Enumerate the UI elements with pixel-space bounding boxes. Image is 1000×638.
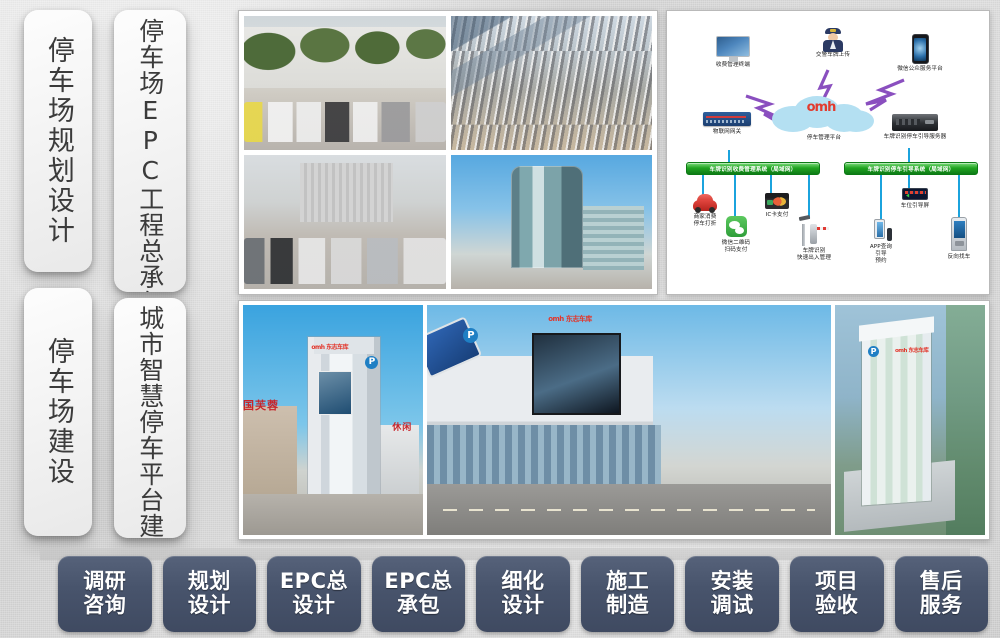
- render-aerial-tower-garage: P omh 东志车库: [835, 305, 985, 535]
- leaf-label-line2: 扫码支付: [714, 247, 758, 254]
- leaf-label-line2: 快速出入管理: [790, 255, 838, 262]
- wechat-icon: [726, 216, 747, 237]
- connector-to-ic-card: [770, 175, 772, 194]
- card-label: 城市智慧停车平台建设: [135, 305, 165, 531]
- card-label: 停车场规划设计: [42, 36, 74, 246]
- street-road: [427, 484, 831, 535]
- bar-lpr-guidance-system: 车牌识别停车引导系统（局域网）: [844, 162, 978, 175]
- chip-line2: 调试: [711, 594, 754, 618]
- parking-badge: P: [365, 356, 378, 369]
- chip-row: 调研 咨询 规划 设计 EPC总 设计 EPC总 承包 细化 设计 施工 制造: [58, 556, 988, 632]
- neighbor-building-left: [243, 406, 297, 498]
- connector-to-app: [880, 175, 882, 221]
- photo-aerial-parking-lot: [451, 16, 653, 150]
- connector-to-reverse-find: [958, 175, 960, 219]
- card-smart-parking-platform[interactable]: 城市智慧停车平台建设: [114, 298, 186, 538]
- node-label: 微信公众服务平台: [884, 66, 956, 73]
- photo-street-parking-lot: [244, 16, 446, 150]
- chip-line1: EPC总: [384, 570, 452, 594]
- leaf-app-query-guidance: APP查询 引导 预约: [862, 219, 900, 265]
- glass-facade: [427, 425, 661, 485]
- chip-line1: 安装: [711, 570, 754, 594]
- node-label: 收费管理终端: [696, 62, 770, 69]
- node-label: 交警车牌上传: [802, 52, 864, 59]
- card-label: 停车场建设: [42, 337, 74, 487]
- router-gateway-icon: [703, 112, 751, 126]
- connector-gateway-down: [728, 150, 730, 162]
- bar-label: 车牌识别收费管理系统（局域网）: [710, 165, 797, 173]
- chip-epc-overall-design[interactable]: EPC总 设计: [267, 556, 361, 632]
- node-lpr-guidance-server: 车牌识别停车引导服务器: [868, 114, 962, 141]
- chip-line1: 施工: [606, 570, 649, 594]
- ic-card-icon: [765, 193, 789, 209]
- street-ground: [243, 494, 423, 535]
- chip-line1: 调研: [83, 570, 126, 594]
- leaf-wechat-qr-payment: 微信二维码 扫码支付: [714, 216, 758, 254]
- smartphone-icon: [912, 34, 929, 64]
- chip-line2: 设计: [502, 594, 545, 618]
- node-wechat-public-platform: 微信公众服务平台: [884, 34, 956, 73]
- chip-detailed-design[interactable]: 细化 设计: [476, 556, 570, 632]
- node-label: 车牌识别停车引导服务器: [868, 134, 962, 141]
- photo-glass-office-tower: [451, 155, 653, 289]
- node-parking-cloud-platform: omh 停车管理平台: [772, 92, 876, 142]
- brand-logo: omh 东志车库: [311, 342, 348, 351]
- led-guidance-screen-icon: [902, 188, 928, 200]
- chip-line2: 承包: [397, 594, 440, 618]
- chip-line2: 设计: [292, 594, 335, 618]
- chip-line2: 服务: [920, 594, 963, 618]
- leaf-lpr-fast-access: 车牌识别 快速出入管理: [790, 216, 838, 262]
- connector-server-down: [908, 148, 910, 162]
- site-photo-panel: [238, 10, 658, 295]
- architectural-render-panel: omh 东志车库 P 国芙蓉 休闲 P omh 东志车库 P: [238, 300, 990, 540]
- bar-lpr-toll-system: 车牌识别收费管理系统（局域网）: [686, 162, 820, 175]
- chip-epc-contracting[interactable]: EPC总 承包: [372, 556, 466, 632]
- mobile-app-icon: [874, 219, 888, 241]
- left-card-column: 停车场规划设计 停车场EPC工程总承包 停车场建设 城市智慧停车平台建设: [0, 0, 232, 548]
- node-label: 停车管理平台: [772, 135, 876, 142]
- signage-left: 国芙蓉: [243, 397, 279, 413]
- parking-badge: P: [463, 328, 478, 343]
- card-label: 停车场EPC工程总承包: [135, 18, 165, 283]
- chip-line2: 验收: [815, 594, 858, 618]
- render-grid: omh 东志车库 P 国芙蓉 休闲 P omh 东志车库 P: [243, 305, 985, 535]
- photo-lot-with-brick-building: [244, 155, 446, 289]
- chip-line1: 规划: [188, 570, 231, 594]
- signage-right: 休闲: [392, 420, 412, 433]
- leaf-label-line1: 反向找车: [940, 254, 978, 261]
- chip-line1: 项目: [815, 570, 858, 594]
- photo-grid: [244, 16, 652, 289]
- connector-to-wechat-qr: [734, 175, 736, 217]
- chip-line1: 细化: [502, 570, 545, 594]
- node-toll-management-terminal: 收费管理终端: [696, 36, 770, 69]
- node-traffic-police-upload: 交警车牌上传: [802, 28, 864, 59]
- bar-label: 车牌识别停车引导系统（局域网）: [868, 165, 955, 173]
- barrier-gate-camera-icon: [799, 216, 829, 246]
- leaf-reverse-car-finding: 反向找车: [940, 217, 978, 261]
- chip-construction-manufacture[interactable]: 施工 制造: [581, 556, 675, 632]
- node-label: 物联网网关: [690, 129, 764, 136]
- card-parking-planning-design[interactable]: 停车场规划设计: [24, 10, 92, 272]
- leaf-parking-guidance-screen: 车位引导屏: [894, 188, 936, 210]
- chip-planning-design[interactable]: 规划 设计: [163, 556, 257, 632]
- poster-canvas: 停车场规划设计 停车场EPC工程总承包 停车场建设 城市智慧停车平台建设: [0, 0, 1000, 638]
- render-multistory-garage: P omh 东志车库: [427, 305, 831, 535]
- card-parking-epc-contract[interactable]: 停车场EPC工程总承包: [114, 10, 186, 292]
- leaf-label-line3: 预约: [862, 258, 900, 265]
- node-iot-gateway: 物联网网关: [690, 112, 764, 136]
- brand-logo: omh 东志车库: [548, 314, 592, 324]
- chip-survey-consulting[interactable]: 调研 咨询: [58, 556, 152, 632]
- red-car-icon: [693, 194, 717, 211]
- chip-project-acceptance[interactable]: 项目 验收: [790, 556, 884, 632]
- connector-to-lpr-access: [808, 175, 810, 219]
- neighbor-building-right: [376, 425, 419, 503]
- chip-line2: 咨询: [83, 594, 126, 618]
- connector-to-merchant: [702, 175, 704, 195]
- monitor-icon: [716, 36, 750, 62]
- leaf-label-line1: 车位引导屏: [894, 203, 936, 210]
- cloud-icon: omh: [772, 92, 876, 134]
- system-architecture-diagram: 收费管理终端 交警车牌上传 微信公众服务平台 物联网网关 车牌识别停车引导服务器: [666, 10, 990, 295]
- chip-line2: 制造: [606, 594, 649, 618]
- self-service-kiosk-icon: [951, 217, 967, 251]
- process-flow-bar: 调研 咨询 规划 设计 EPC总 设计 EPC总 承包 细化 设计 施工 制造: [0, 548, 1000, 638]
- led-billboard: [532, 333, 621, 416]
- card-parking-construction[interactable]: 停车场建设: [24, 288, 92, 536]
- server-rack-icon: [892, 114, 938, 131]
- omh-logo: omh: [798, 100, 844, 115]
- chip-line1: 售后: [920, 570, 963, 594]
- chip-line1: EPC总: [280, 570, 348, 594]
- chip-line2: 设计: [188, 594, 231, 618]
- chip-install-commission[interactable]: 安装 调试: [685, 556, 779, 632]
- brand-logo: omh 东志车库: [895, 346, 928, 354]
- render-tower-garage-street: omh 东志车库 P 国芙蓉 休闲: [243, 305, 423, 535]
- police-officer-icon: [823, 28, 843, 52]
- chip-after-sales-service[interactable]: 售后 服务: [895, 556, 989, 632]
